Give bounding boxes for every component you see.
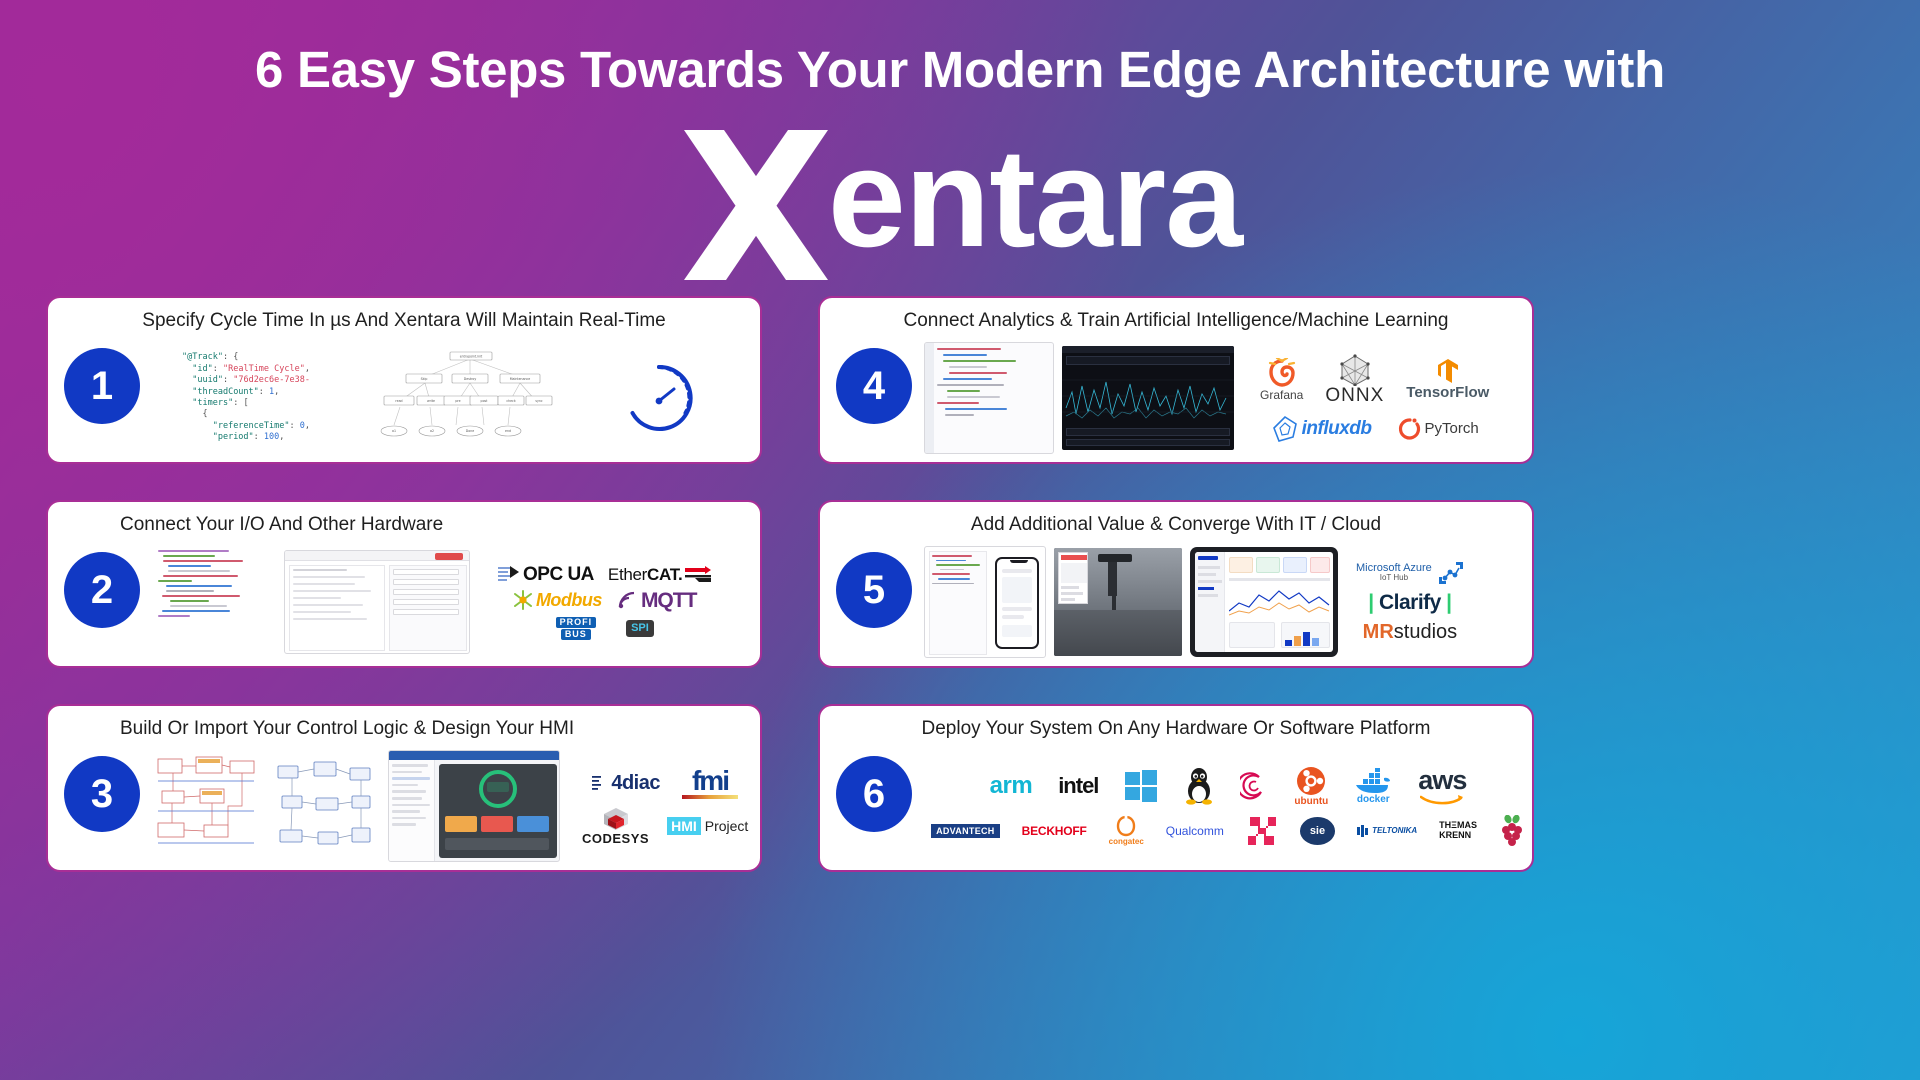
docker-whale-icon	[1354, 768, 1392, 794]
beckhoff-logo: BECKHOFF	[1022, 824, 1087, 838]
azure-sublabel: IoT Hub	[1356, 574, 1432, 583]
teltonika-logo: TELTONIKA	[1357, 825, 1417, 837]
card-4-logo-cluster: Grafana ONNX	[1260, 354, 1489, 443]
modbus-label: Modbus	[536, 591, 602, 609]
card-3-logo-cluster: 4diac fmi	[582, 767, 748, 845]
raspberry-pi-logo-icon	[1499, 815, 1525, 847]
tensorflow-logo: TensorFlow	[1406, 358, 1489, 400]
docker-logo: docker	[1354, 768, 1392, 805]
xentara-wordmark-text: entara	[828, 119, 1242, 276]
qualcomm-logo: Qualcomm	[1166, 824, 1224, 838]
opcua-icon	[498, 565, 520, 583]
svg-text:pre: pre	[455, 399, 460, 403]
grafana-label: Grafana	[1260, 389, 1303, 401]
svg-text:a2: a2	[430, 429, 434, 433]
profibus-bottom-label: BUS	[561, 629, 591, 640]
influxdb-logo: influxdb	[1271, 415, 1372, 443]
hmi-screen-inset	[1058, 552, 1088, 604]
ubuntu-logo: ubuntu	[1294, 766, 1328, 807]
page-headline: 6 Easy Steps Towards Your Modern Edge Ar…	[0, 40, 1920, 99]
step-card-2[interactable]: Connect Your I/O And Other Hardware 2	[46, 500, 762, 668]
congatec-label: congatec	[1109, 838, 1144, 846]
step-2-body: OPC UA EtherCAT.	[152, 544, 752, 660]
card-2-logo-cluster: OPC UA EtherCAT.	[498, 565, 711, 640]
grafana-icon	[1267, 358, 1297, 388]
docker-label: docker	[1357, 795, 1390, 805]
step-2-title: Connect Your I/O And Other Hardware	[120, 514, 762, 536]
step-6-title: Deploy Your System On Any Hardware Or So…	[820, 718, 1532, 740]
json-config-snippet: "@Track": { "id": "RealTime Cycle", "uui…	[152, 343, 362, 453]
congatec-icon	[1116, 815, 1136, 837]
step-3-body: 4diac fmi	[152, 748, 752, 864]
step-4-title: Connect Analytics & Train Artificial Int…	[820, 310, 1532, 332]
pytorch-label: PyTorch	[1425, 421, 1479, 436]
step-3-title: Build Or Import Your Control Logic & Des…	[120, 718, 762, 740]
codesys-cube-icon	[602, 807, 630, 831]
windows-logo-icon	[1124, 769, 1158, 803]
step-6-body: arm intel	[932, 748, 1524, 864]
svg-text:read: read	[395, 399, 402, 403]
onnx-icon	[1338, 354, 1372, 386]
robot-cell-photo	[1054, 548, 1182, 656]
json-code-text: "@Track": { "id": "RealTime Cycle", "uui…	[182, 352, 310, 443]
realtime-gauge-icon	[622, 361, 696, 435]
modbus-logo: Modbus	[513, 590, 602, 610]
svg-text:write: write	[427, 399, 435, 403]
opcua-logo: OPC UA	[498, 565, 594, 584]
tensorflow-label: TensorFlow	[1406, 385, 1489, 400]
step-5-badge: 5	[836, 552, 912, 628]
teltonika-icon	[1357, 825, 1369, 837]
svg-text:check: check	[506, 399, 515, 403]
hmi-project-logo: HMI Project	[667, 817, 748, 835]
ubuntu-label: ubuntu	[1294, 797, 1328, 807]
aws-label: aws	[1418, 767, 1466, 794]
tensorflow-icon	[1437, 358, 1459, 384]
aws-smile-icon	[1420, 794, 1464, 806]
grafana-dashboard-screenshot	[1062, 346, 1234, 450]
fourdiac-logo: 4diac	[592, 773, 660, 793]
svg-text:end: end	[505, 429, 511, 433]
svg-text:sync: sync	[535, 399, 543, 403]
io-code-screenshot	[152, 544, 276, 660]
platform-logos-row-2: ADVANTECH BECKHOFF congatec Qualcomm sie	[931, 815, 1525, 847]
mqtt-label: MQTT	[641, 590, 696, 611]
advantech-logo: ADVANTECH	[931, 824, 1000, 838]
step-card-1[interactable]: Specify Cycle Time In µs And Xentara Wil…	[46, 296, 762, 464]
mqtt-logo: MQTT	[618, 590, 696, 611]
spi-label: SPI	[626, 620, 654, 637]
simulink-model-screenshot	[270, 752, 380, 860]
debian-logo-icon	[1240, 770, 1268, 802]
svg-text:entrypoint.init: entrypoint.init	[460, 355, 483, 359]
aws-logo: aws	[1418, 767, 1466, 806]
step-4-badge: 4	[836, 348, 912, 424]
profibus-logo: PROFI BUS	[556, 617, 597, 640]
teltonika-label: TELTONIKA	[1372, 827, 1417, 835]
congatec-logo: congatec	[1109, 815, 1144, 846]
step-card-4[interactable]: Connect Analytics & Train Artificial Int…	[818, 296, 1534, 464]
xentara-x-icon	[678, 130, 828, 280]
mobile-app-mockup-screenshot	[924, 546, 1046, 658]
step-1-title: Specify Cycle Time In µs And Xentara Wil…	[48, 310, 760, 332]
svg-text:Done: Done	[466, 429, 474, 433]
step-1-badge: 1	[64, 348, 140, 424]
svg-text:a1: a1	[392, 429, 396, 433]
hmi-designer-screenshot	[388, 750, 560, 862]
thomas-krenn-logo: THΞMAS KRENN	[1439, 821, 1477, 840]
device-config-dialog-screenshot	[284, 550, 470, 654]
influxdb-label: influxdb	[1302, 419, 1372, 438]
fmi-label: fmi	[692, 767, 728, 795]
profibus-top-label: PROFI	[556, 617, 597, 628]
step-card-5[interactable]: Add Additional Value & Converge With IT …	[818, 500, 1534, 668]
ethercat-arrow-icon	[685, 566, 711, 582]
steps-grid: Specify Cycle Time In µs And Xentara Wil…	[46, 296, 1874, 1056]
pytorch-icon	[1398, 416, 1422, 442]
ethercat-label: EtherCAT.	[608, 566, 682, 583]
dependency-tree-diagram: entrypoint.init Skip Destroy Maintenance…	[370, 343, 570, 453]
svg-text:Destroy: Destroy	[464, 377, 477, 381]
modbus-icon	[513, 590, 533, 610]
hmi-mark-label: HMI	[667, 817, 701, 835]
codesys-logo: CODESYS	[582, 807, 649, 845]
thomas-line2: KRENN	[1439, 831, 1477, 840]
dependency-tree-svg: entrypoint.init Skip Destroy Maintenance…	[370, 343, 570, 453]
azure-iot-hub-icon	[1438, 561, 1464, 585]
pytorch-logo: PyTorch	[1398, 416, 1479, 442]
fmi-logo: fmi	[682, 767, 738, 799]
fourdiac-icon	[592, 774, 608, 792]
step-5-body: Microsoft Azure IoT Hub	[924, 544, 1524, 660]
codesys-label: CODESYS	[582, 832, 649, 845]
mr-label: studios	[1394, 621, 1457, 643]
onnx-logo: ONNX	[1325, 354, 1384, 405]
onnx-label: ONNX	[1325, 386, 1384, 405]
influxdb-icon	[1271, 415, 1299, 443]
grafana-logo: Grafana	[1260, 358, 1303, 401]
tablet-dashboard-screenshot	[1190, 547, 1338, 657]
platform-logos-row-1: arm intel	[990, 766, 1467, 807]
hirschmann-logo-icon	[1246, 816, 1278, 846]
azure-iot-hub-logo: Microsoft Azure IoT Hub	[1356, 562, 1432, 583]
step-card-6[interactable]: Deploy Your System On Any Hardware Or So…	[818, 704, 1534, 872]
ubuntu-icon	[1296, 766, 1326, 796]
arm-logo: arm	[990, 772, 1033, 800]
fbd-diagram-screenshot	[152, 751, 262, 861]
phone-frame	[995, 557, 1039, 649]
mrstudios-logo: MRstudios	[1363, 621, 1457, 644]
mqtt-wave-icon	[618, 591, 638, 609]
step-2-badge: 2	[64, 552, 140, 628]
step-4-body: Grafana ONNX	[924, 340, 1524, 456]
hmi-project-label: Project	[705, 818, 749, 834]
step-1-body: "@Track": { "id": "RealTime Cycle", "uui…	[152, 340, 752, 456]
analytics-code-editor-screenshot	[924, 342, 1054, 454]
card-5-logo-cluster: Microsoft Azure IoT Hub	[1356, 561, 1464, 644]
step-card-3[interactable]: Build Or Import Your Control Logic & Des…	[46, 704, 762, 872]
clarify-logo: | Clarify |	[1368, 591, 1451, 615]
svg-text:post: post	[481, 399, 489, 403]
linux-tux-logo-icon	[1184, 767, 1214, 805]
step-3-badge: 3	[64, 756, 140, 832]
fmi-underline	[682, 795, 738, 799]
xentara-wordmark: entara	[0, 128, 1920, 280]
ethercat-logo: EtherCAT.	[608, 566, 711, 583]
mr-mark: MR	[1363, 621, 1394, 643]
step-6-badge: 6	[836, 756, 912, 832]
spi-logo: SPI	[626, 620, 654, 637]
opcua-label: OPC UA	[523, 565, 594, 584]
step-5-title: Add Additional Value & Converge With IT …	[820, 514, 1532, 536]
clarify-label: Clarify	[1379, 591, 1441, 614]
sie-logo: sie	[1300, 817, 1335, 845]
svg-text:Skip: Skip	[421, 377, 428, 381]
svg-text:Maintenance: Maintenance	[510, 377, 531, 381]
fourdiac-label: 4diac	[611, 773, 660, 793]
intel-logo: intel	[1058, 773, 1098, 799]
